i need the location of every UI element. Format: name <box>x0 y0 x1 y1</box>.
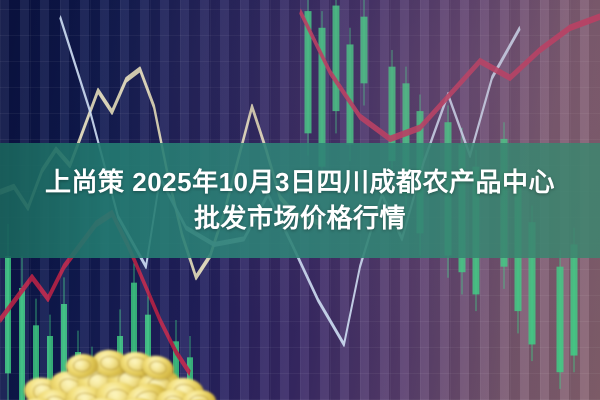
banner-image: 上尚策 2025年10月3日四川成都农产品中心批发市场价格行情 <box>0 0 600 400</box>
page-title: 上尚策 2025年10月3日四川成都农产品中心批发市场价格行情 <box>40 165 560 235</box>
title-band: 上尚策 2025年10月3日四川成都农产品中心批发市场价格行情 <box>0 143 600 258</box>
